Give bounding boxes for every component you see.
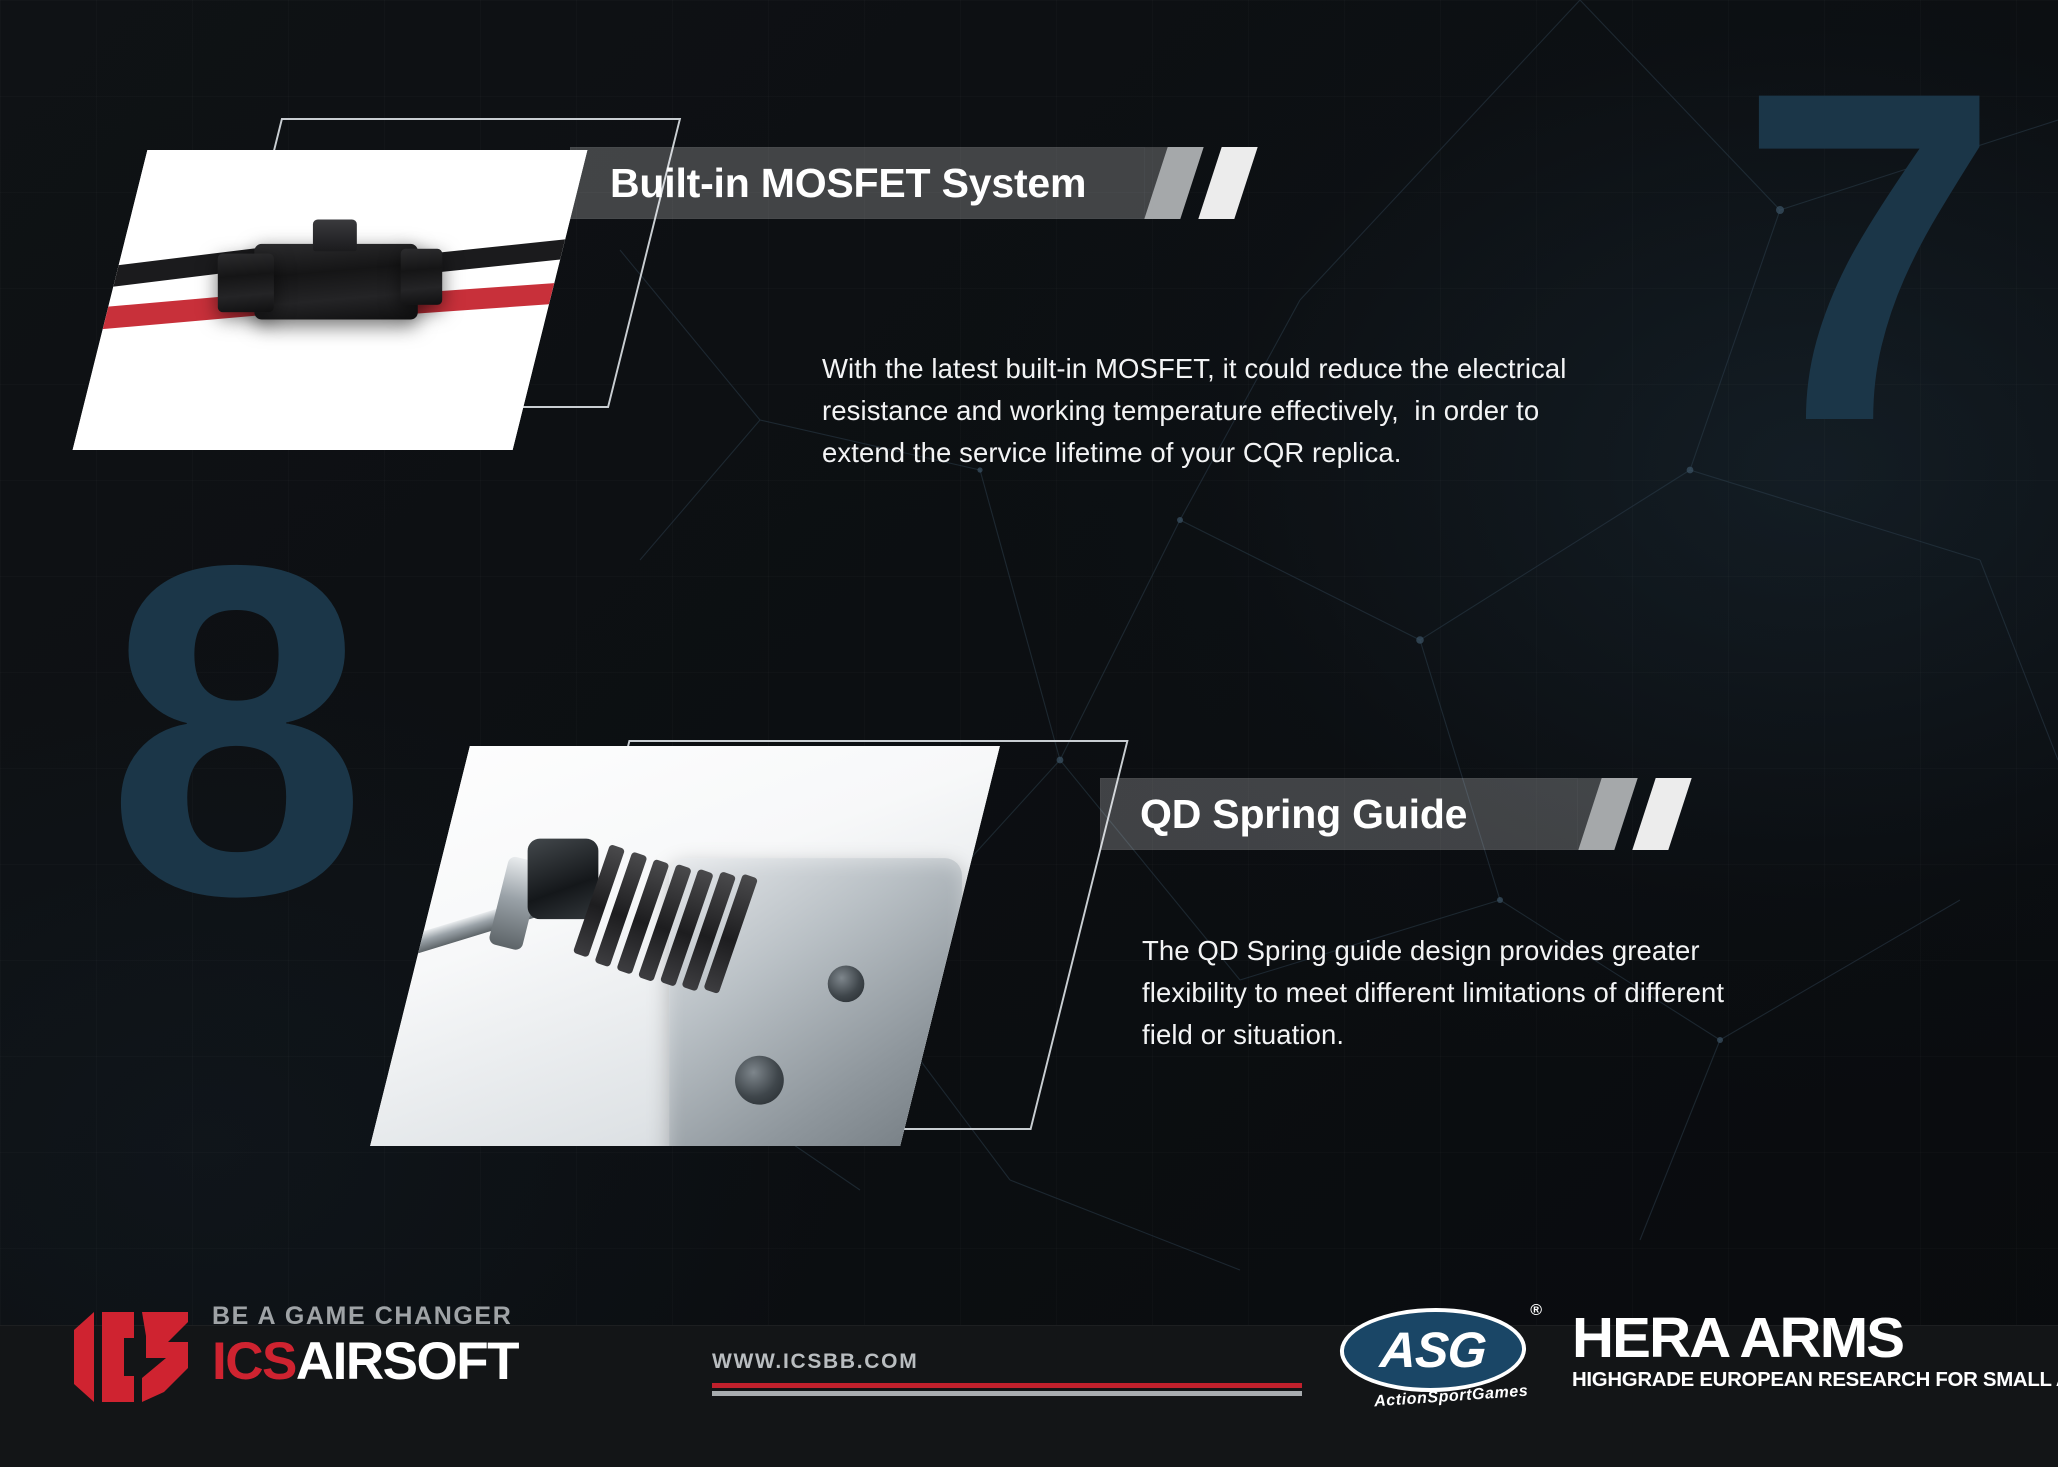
ics-logo-mark [72,1308,190,1406]
ics-brand-airsoft: AIRSOFT [296,1332,518,1391]
feature-8-body-text: The QD Spring guide design provides grea… [1142,930,1942,1055]
url-rule-gray [712,1391,1302,1396]
spring-guide-photo-frame [420,708,1140,1148]
feature-section-8: 8 [0,0,2058,1250]
url-rule-red [712,1383,1302,1388]
hera-arms-subtitle: HIGHGRADE EUROPEAN RESEARCH FOR SMALL AR… [1572,1368,2010,1392]
asg-letters: ASG [1337,1308,1529,1392]
feature-8-title: QD Spring Guide [1140,791,1467,838]
ics-brand: ICSAIRSOFT [212,1338,518,1387]
feature-number-8: 8 [106,538,353,923]
hera-arms-logo: HERA ARMS HIGHGRADE EUROPEAN RESEARCH FO… [1572,1312,2012,1392]
qd-spring-guide-photo [370,746,1000,1146]
registered-trademark-icon: ® [1530,1302,1542,1320]
ics-tagline: BE A GAME CHANGER [212,1304,518,1329]
heading-plate: QD Spring Guide [1100,778,1578,850]
accent-slash-white [1632,778,1691,850]
feature-8-body: The QD Spring guide design provides grea… [1142,930,1942,1055]
hera-arms-name: HERA ARMS [1572,1312,2021,1364]
ics-wordmark: BE A GAME CHANGER ICSAIRSOFT [212,1304,518,1387]
asg-logo: ASG ® ActionSportGames [1340,1300,1540,1412]
poster-canvas: 7 [0,0,2058,1467]
website-url[interactable]: WWW.ICSBB.COM [712,1350,1302,1374]
ics-brand-ics: ICS [212,1332,296,1391]
website-url-block[interactable]: WWW.ICSBB.COM [712,1350,1302,1396]
feature-8-heading-bar: QD Spring Guide [1100,778,1880,850]
